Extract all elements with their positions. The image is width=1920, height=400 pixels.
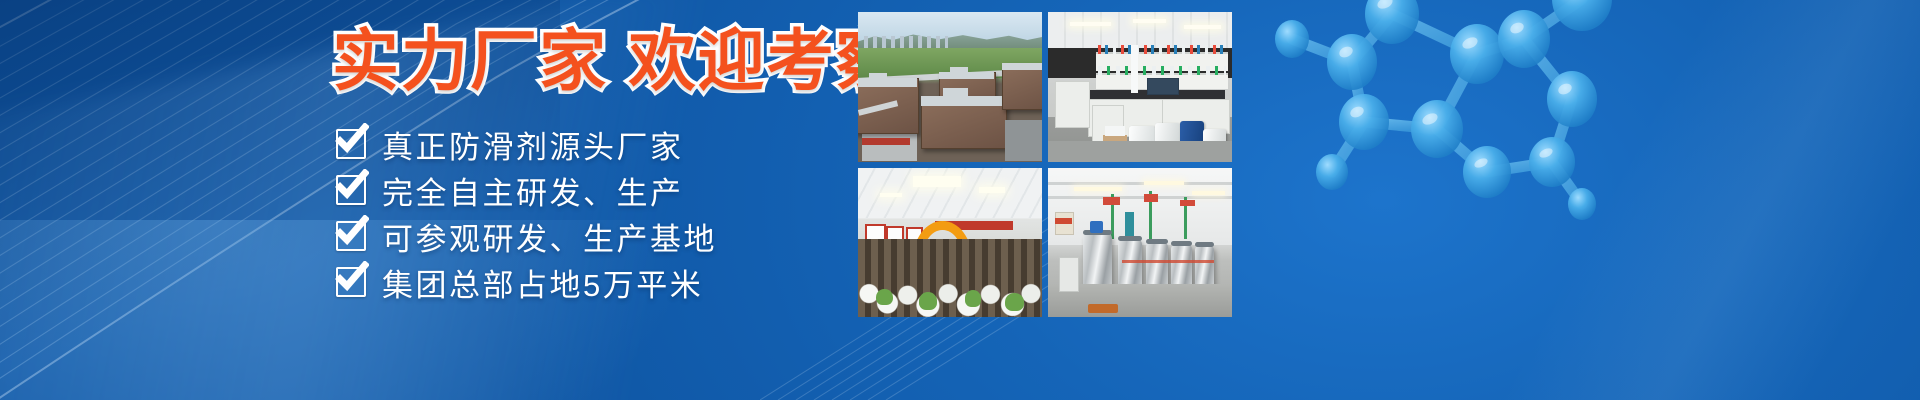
production-equipment-photo	[1048, 168, 1232, 318]
check-square-icon	[336, 267, 366, 297]
list-item-label: 可参观研发、生产基地	[382, 214, 717, 259]
photo-gallery	[858, 12, 1232, 317]
aerial-factory-campus-photo	[858, 12, 1042, 162]
laboratory-photo	[1048, 12, 1232, 162]
list-item-label: 完全自主研发、生产	[382, 168, 684, 213]
list-item-label: 集团总部占地5万平米	[382, 260, 703, 305]
check-square-icon	[336, 221, 366, 251]
list-item: 集团总部占地5万平米	[336, 260, 717, 304]
check-square-icon	[336, 129, 366, 159]
employee-assembly-photo	[858, 168, 1042, 318]
feature-list: 真正防滑剂源头厂家 完全自主研发、生产 可参观研发、生产基地	[336, 122, 717, 306]
check-square-icon	[336, 175, 366, 205]
page-title: 实力厂家 欢迎考察	[332, 28, 905, 95]
list-item: 完全自主研发、生产	[336, 168, 717, 212]
list-item-label: 真正防滑剂源头厂家	[382, 122, 684, 167]
molecule-structure-graphic	[1252, 0, 1892, 324]
list-item: 真正防滑剂源头厂家	[336, 122, 717, 166]
right-diagonal-glow	[1200, 0, 1920, 400]
list-item: 可参观研发、生产基地	[336, 214, 717, 258]
promo-banner: 实力厂家 欢迎考察 真正防滑剂源头厂家 完全自主研发、生产	[0, 0, 1920, 400]
